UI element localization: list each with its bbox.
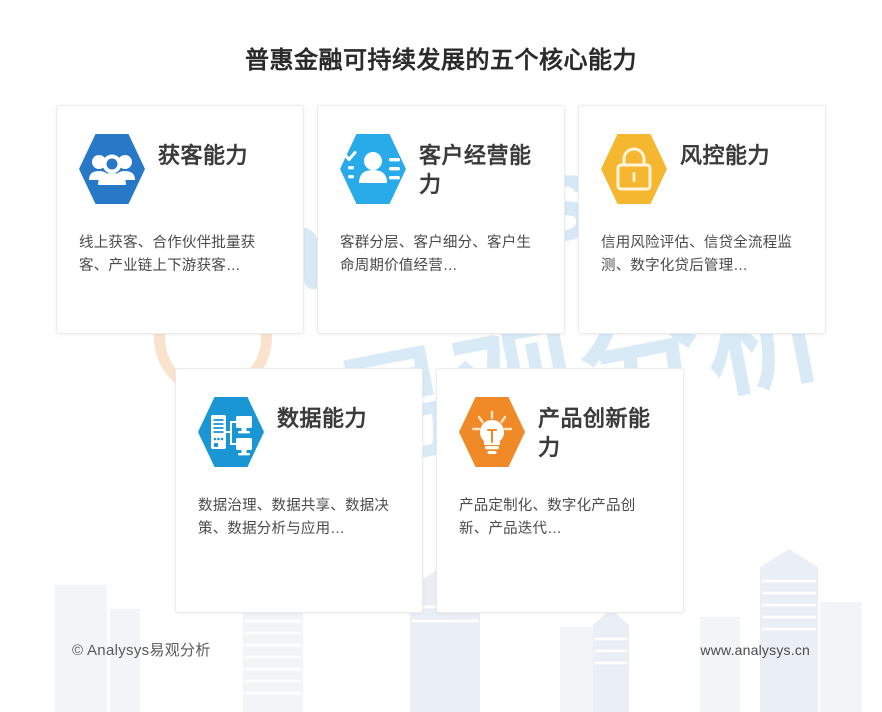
capability-card-customer-acquisition[interactable]: 获客能力 线上获客、合作伙伴批量获客、产业链上下游获客…	[56, 105, 304, 334]
card-header: 产品创新能力	[459, 395, 661, 469]
capability-card-risk-control[interactable]: 风控能力 信用风险评估、信贷全流程监测、数字化贷后管理…	[578, 105, 826, 334]
card-header: 客户经营能力	[340, 132, 542, 206]
card-description: 客群分层、客户细分、客户生命周期价值经营…	[340, 232, 542, 279]
card-description: 信用风险评估、信贷全流程监测、数字化贷后管理…	[601, 232, 803, 279]
card-title: 风控能力	[680, 132, 770, 170]
lightbulb-icon	[459, 395, 525, 469]
people-group-icon	[79, 132, 145, 206]
card-title: 数据能力	[277, 395, 367, 433]
card-description: 数据治理、数据共享、数据决策、数据分析与应用…	[198, 495, 400, 542]
capability-card-customer-operation[interactable]: 客户经营能力 客群分层、客户细分、客户生命周期价值经营…	[317, 105, 565, 334]
page-footer: © Analysys易观分析 www.analysys.cn	[0, 639, 882, 660]
card-title: 客户经营能力	[419, 132, 542, 199]
card-header: 数据能力	[198, 395, 400, 469]
capability-card-row-top: 获客能力 线上获客、合作伙伴批量获客、产业链上下游获客…	[56, 105, 826, 334]
page-title: 普惠金融可持续发展的五个核心能力	[0, 40, 882, 75]
lock-icon	[601, 132, 667, 206]
card-header: 风控能力	[601, 132, 803, 206]
website-link[interactable]: www.analysys.cn	[700, 642, 810, 658]
capability-card-product-innovation[interactable]: 产品创新能力 产品定制化、数字化产品创新、产品迭代…	[436, 368, 684, 613]
copyright-text: © Analysys易观分析	[72, 639, 211, 660]
capability-card-row-bottom: 数据能力 数据治理、数据共享、数据决策、数据分析与应用…	[175, 368, 688, 613]
card-description: 产品定制化、数字化产品创新、产品迭代…	[459, 495, 661, 542]
server-network-icon	[198, 395, 264, 469]
person-profile-list-icon	[340, 132, 406, 206]
card-header: 获客能力	[79, 132, 281, 206]
card-title: 产品创新能力	[538, 395, 661, 462]
capability-card-data[interactable]: 数据能力 数据治理、数据共享、数据决策、数据分析与应用…	[175, 368, 423, 613]
card-description: 线上获客、合作伙伴批量获客、产业链上下游获客…	[79, 232, 281, 279]
card-title: 获客能力	[158, 132, 248, 170]
